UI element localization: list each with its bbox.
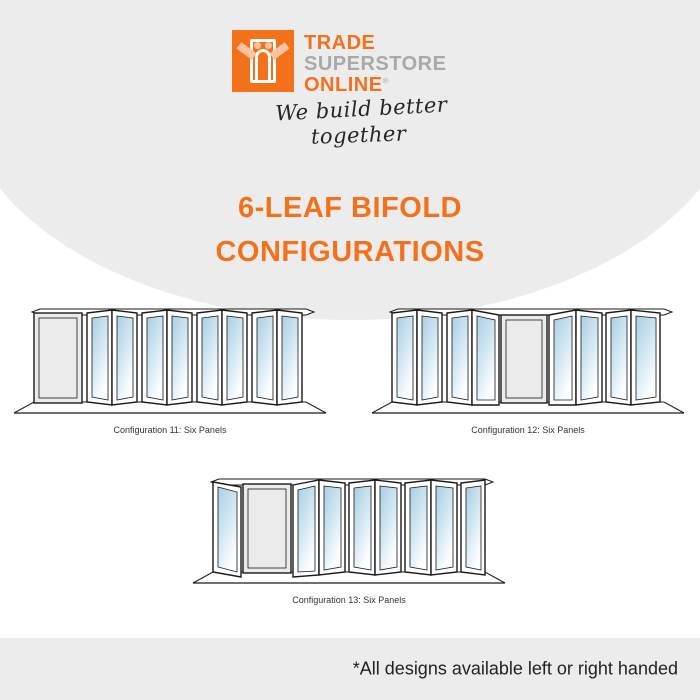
tagline-line-2: together [258,119,459,152]
page-title: 6-LEAF BIFOLD CONFIGURATIONS [0,186,700,274]
footer-note: *All designs available left or right han… [353,659,678,680]
diagram-caption: Configuration 11: Six Panels [10,425,330,435]
door-house-handshake-icon [232,30,294,92]
page-title-line-1: 6-LEAF BIFOLD [0,186,700,230]
footer-bar: *All designs available left or right han… [0,638,700,700]
bifold-drawing-13 [189,476,509,591]
bifold-drawing-12 [368,306,688,421]
brand-tagline: We build better together [261,91,463,153]
diagram-configuration-11: Configuration 11: Six Panels [10,306,330,435]
logo-wordmark: TRADE SUPERSTORE ONLINE® [304,30,446,95]
diagram-configuration-12: Configuration 12: Six Panels [368,306,688,435]
logo-line-trade: TRADE [304,33,446,53]
logo-line-superstore: SUPERSTORE [304,54,446,74]
registered-mark: ® [383,76,389,85]
bifold-drawing-11 [10,306,330,421]
logo[interactable]: TRADE SUPERSTORE ONLINE® [232,30,446,95]
diagram-configuration-13: Configuration 13: Six Panels [189,476,509,605]
diagram-caption: Configuration 12: Six Panels [368,425,688,435]
page-title-line-2: CONFIGURATIONS [0,230,700,274]
poster-canvas: TRADE SUPERSTORE ONLINE® We build better… [0,0,700,700]
diagram-caption: Configuration 13: Six Panels [189,595,509,605]
brand-header: TRADE SUPERSTORE ONLINE® We build better… [0,0,700,175]
